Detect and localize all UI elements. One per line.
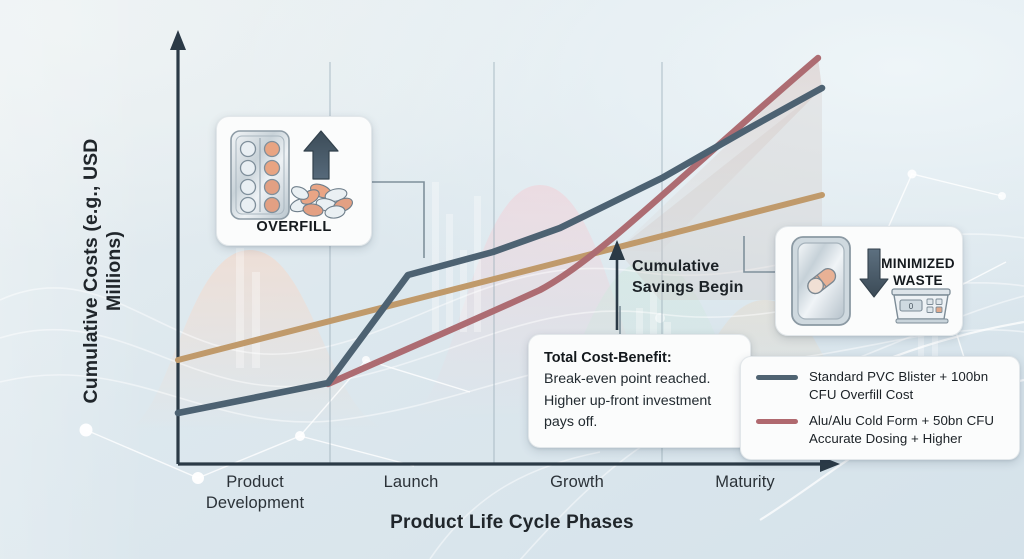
break-even-line3: pays off.	[544, 412, 736, 433]
legend-label-alualu: Alu/Alu Cold Form + 50bn CFU Accurate Do…	[809, 412, 994, 447]
x-tick-line1: Product	[180, 472, 330, 493]
legend-swatch-standard	[756, 375, 798, 380]
legend-label-alualu-line1: Alu/Alu Cold Form + 50bn CFU	[809, 412, 994, 430]
overfill-leader-line	[368, 182, 424, 258]
waste-label-line2: WASTE	[880, 272, 956, 289]
legend-label-alualu-line2: Accurate Dosing + Higher	[809, 430, 994, 448]
savings-annotation-line2: Savings Begin	[632, 277, 744, 298]
pill-pile-icon	[289, 181, 355, 219]
x-tick-launch: Launch	[344, 472, 478, 493]
waste-label-line1: MINIMIZED	[880, 255, 956, 272]
x-axis-label: Product Life Cycle Phases	[0, 512, 1024, 534]
break-even-callout: Total Cost-Benefit: Break-even point rea…	[528, 334, 751, 448]
legend-swatch-alualu	[756, 419, 798, 424]
break-even-title: Total Cost-Benefit:	[544, 348, 736, 368]
x-tick-line1: Growth	[510, 472, 644, 493]
svg-text:0: 0	[909, 302, 914, 311]
x-tick-growth: Growth	[510, 472, 644, 493]
overfill-callout: OVERFILL	[216, 116, 372, 246]
y-axis	[170, 30, 186, 464]
savings-annotation-line1: Cumulative	[632, 256, 744, 277]
x-tick-product-development: Product Development	[180, 472, 330, 514]
blister-pack-icon	[231, 131, 289, 219]
minimized-waste-label: MINIMIZED WASTE	[880, 255, 956, 289]
x-tick-line1: Launch	[344, 472, 478, 493]
x-axis	[178, 456, 840, 472]
legend-item-alualu[interactable]: Alu/Alu Cold Form + 50bn CFU Accurate Do…	[753, 412, 1007, 447]
x-tick-line2: Development	[180, 493, 330, 514]
up-arrow-icon	[304, 131, 338, 179]
x-tick-line1: Maturity	[678, 472, 812, 493]
savings-annotation: Cumulative Savings Begin	[632, 256, 744, 298]
y-axis-label: Cumulative Costs (e.g., USD Millions)	[80, 106, 126, 436]
minimized-waste-callout: 0 MINIMIZED WASTE	[775, 226, 963, 336]
legend-label-standard-line1: Standard PVC Blister + 100bn	[809, 368, 988, 386]
infographic-chart: Cumulative Costs (e.g., USD Millions) Pr…	[0, 0, 1024, 559]
break-even-line1: Break-even point reached.	[544, 369, 736, 390]
overfill-label: OVERFILL	[217, 219, 371, 235]
legend-label-standard: Standard PVC Blister + 100bn CFU Overfil…	[809, 368, 988, 403]
weighing-scale-icon: 0	[892, 289, 950, 323]
x-tick-maturity: Maturity	[678, 472, 812, 493]
legend: Standard PVC Blister + 100bn CFU Overfil…	[740, 356, 1020, 460]
sachet-capsule-icon	[792, 237, 850, 325]
legend-item-standard[interactable]: Standard PVC Blister + 100bn CFU Overfil…	[753, 368, 1007, 403]
legend-label-standard-line2: CFU Overfill Cost	[809, 386, 988, 404]
break-even-line2: Higher up-front investment	[544, 391, 736, 412]
